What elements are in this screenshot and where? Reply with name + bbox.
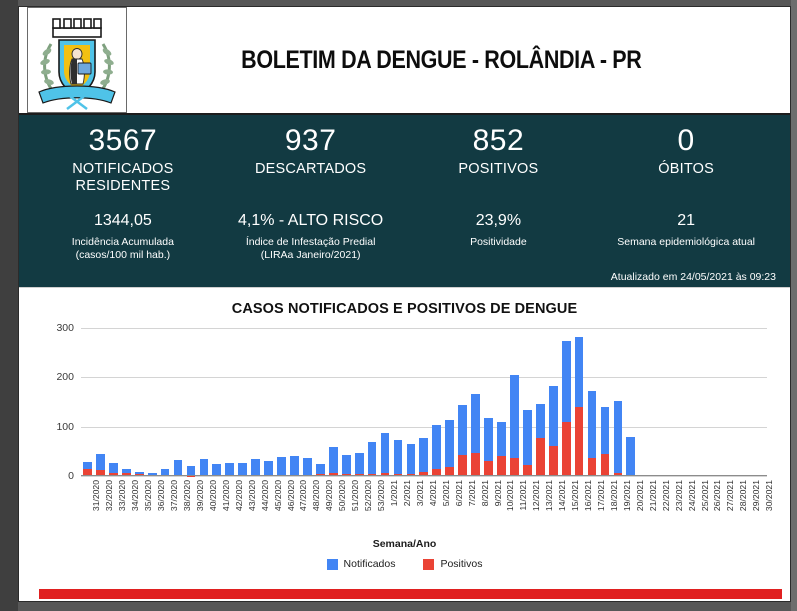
chart-x-axis-title: Semana/Ano <box>19 538 790 550</box>
chart-x-axis-line <box>81 475 767 477</box>
x-tick: 11/2021 <box>508 478 521 536</box>
bar-segment-positivos <box>562 422 571 476</box>
x-tick: 19/2021 <box>611 478 624 536</box>
x-tick: 45/2020 <box>262 478 275 536</box>
bar-segment-notificados <box>251 459 260 475</box>
bar-slot <box>392 328 405 476</box>
stacked-bar <box>303 458 312 476</box>
kpi-card-positivos: 852 POSITIVOS <box>405 125 593 196</box>
legend-item-notificados: Notificados <box>327 558 396 570</box>
bar-segment-positivos <box>536 438 545 476</box>
x-tick: 43/2020 <box>236 478 249 536</box>
kpi-secondary-value-liraa: 4,1% - ALTO RISCO <box>221 212 401 230</box>
bar-segment-notificados <box>575 337 584 407</box>
x-tick: 3/2021 <box>404 478 417 536</box>
stacked-bar <box>407 444 416 476</box>
x-tick: 29/2021 <box>741 478 754 536</box>
bar-slot <box>650 328 663 476</box>
x-tick: 12/2021 <box>521 478 534 536</box>
bar-segment-notificados <box>523 410 532 465</box>
kpi-card-obitos: 0 ÓBITOS <box>592 125 780 196</box>
bar-slot <box>197 328 210 476</box>
stacked-bar <box>458 405 467 476</box>
stacked-bar <box>368 442 377 476</box>
x-tick: 35/2020 <box>133 478 146 536</box>
x-tick: 49/2020 <box>314 478 327 536</box>
bar-segment-notificados <box>549 386 558 446</box>
kpi-card-descartados: 937 DESCARTADOS <box>217 125 405 196</box>
bar-segment-notificados <box>96 454 105 470</box>
kpi-secondary-value-incidencia: 1344,05 <box>33 212 213 230</box>
bar-segment-notificados <box>290 456 299 475</box>
stacked-bar <box>471 394 480 476</box>
screenshot-root: BOLETIM DA DENGUE - ROLÂNDIA - PR 3567 N… <box>0 0 797 611</box>
bar-slot <box>560 328 573 476</box>
left-gutter <box>0 0 18 611</box>
x-tick: 34/2020 <box>120 478 133 536</box>
y-tick-label-300: 300 <box>56 322 74 334</box>
bar-segment-notificados <box>497 422 506 456</box>
bar-slot <box>366 328 379 476</box>
x-tick: 23/2021 <box>663 478 676 536</box>
bar-segment-notificados <box>342 455 351 473</box>
bar-slot <box>185 328 198 476</box>
bar-segment-notificados <box>432 425 441 469</box>
bar-slot <box>301 328 314 476</box>
bar-segment-notificados <box>394 440 403 473</box>
bar-segment-notificados <box>238 463 247 475</box>
legend-swatch-positivos <box>423 559 434 570</box>
kpi-value-descartados: 937 <box>221 125 401 157</box>
legend-label-notificados: Notificados <box>344 558 396 570</box>
bar-segment-notificados <box>601 407 610 454</box>
bar-slot <box>495 328 508 476</box>
stacked-bar <box>342 455 351 476</box>
bar-segment-notificados <box>264 461 273 475</box>
bar-segment-notificados <box>484 418 493 461</box>
legend-swatch-notificados <box>327 559 338 570</box>
bar-slot <box>94 328 107 476</box>
bar-slot <box>741 328 754 476</box>
x-tick: 36/2020 <box>146 478 159 536</box>
x-tick: 22/2021 <box>650 478 663 536</box>
bar-segment-positivos <box>497 456 506 476</box>
bar-slot <box>417 328 430 476</box>
bar-slot <box>624 328 637 476</box>
chart-legend: Notificados Positivos <box>19 558 790 570</box>
kpi-label-descartados: DESCARTADOS <box>221 161 401 179</box>
bar-segment-notificados <box>200 459 209 475</box>
kpi-caption-liraa: Índice de Infestação Predial(LIRAa Janei… <box>221 236 401 262</box>
bar-slot <box>314 328 327 476</box>
x-tick: 24/2021 <box>676 478 689 536</box>
bar-segment-positivos <box>471 453 480 476</box>
bar-segment-notificados <box>407 444 416 474</box>
bar-slot <box>521 328 534 476</box>
x-tick: 32/2020 <box>94 478 107 536</box>
bar-slot <box>81 328 94 476</box>
bar-slot <box>599 328 612 476</box>
x-tick: 25/2021 <box>689 478 702 536</box>
bar-slot <box>508 328 521 476</box>
bar-slot <box>223 328 236 476</box>
x-tick: 8/2021 <box>469 478 482 536</box>
kpi-value-notificados: 3567 <box>33 125 213 157</box>
stacked-bar <box>497 422 506 476</box>
bar-segment-notificados <box>588 391 597 458</box>
bar-slot <box>353 328 366 476</box>
x-tick: 7/2021 <box>456 478 469 536</box>
x-tick: 1/2021 <box>379 478 392 536</box>
bar-slot <box>133 328 146 476</box>
bar-slot <box>754 328 767 476</box>
x-tick: 50/2020 <box>327 478 340 536</box>
kpi-label-positivos: POSITIVOS <box>409 161 589 179</box>
x-tick: 16/2021 <box>573 478 586 536</box>
brasao-icon <box>31 10 123 110</box>
bar-segment-notificados <box>445 420 454 467</box>
kpi-caption-incidencia: Incidência Acumulada(casos/100 mil hab.) <box>33 236 213 262</box>
gridline-0: 0 <box>81 476 767 477</box>
x-tick: 20/2021 <box>624 478 637 536</box>
page-header: BOLETIM DA DENGUE - ROLÂNDIA - PR <box>19 7 790 115</box>
stacked-bar <box>536 404 545 476</box>
stacked-bar <box>626 437 635 476</box>
bar-segment-notificados <box>419 438 428 472</box>
stacked-bar <box>588 391 597 476</box>
bar-slot <box>456 328 469 476</box>
bar-slot <box>534 328 547 476</box>
x-tick: 10/2021 <box>495 478 508 536</box>
bar-segment-positivos <box>458 455 467 476</box>
bar-segment-notificados <box>174 460 183 475</box>
kpi-secondary-incidencia: 1344,05 Incidência Acumulada(casos/100 m… <box>29 212 217 263</box>
bar-segment-notificados <box>381 433 390 472</box>
x-tick: 48/2020 <box>301 478 314 536</box>
x-tick: 5/2021 <box>430 478 443 536</box>
x-tick: 47/2020 <box>288 478 301 536</box>
bar-slot <box>469 328 482 476</box>
bar-segment-notificados <box>225 463 234 475</box>
bar-slot <box>404 328 417 476</box>
bar-slot <box>146 328 159 476</box>
stacked-bar <box>96 454 105 476</box>
x-tick: 51/2020 <box>340 478 353 536</box>
bar-slot <box>728 328 741 476</box>
bar-slot <box>379 328 392 476</box>
bar-slot <box>340 328 353 476</box>
kpi-caption-semana: Semana epidemiológica atual <box>596 236 776 249</box>
bar-slot <box>159 328 172 476</box>
bar-slot <box>107 328 120 476</box>
x-tick: 26/2021 <box>702 478 715 536</box>
kpi-secondary-value-semana: 21 <box>596 212 776 230</box>
stacked-bar <box>549 386 558 476</box>
bar-segment-positivos <box>510 458 519 476</box>
bar-slot <box>443 328 456 476</box>
bar-segment-positivos <box>601 454 610 476</box>
coat-of-arms-emblem <box>27 7 127 113</box>
bar-slot <box>663 328 676 476</box>
bar-segment-positivos <box>588 458 597 476</box>
chart-plot-area: 0100200300 <box>81 328 767 476</box>
bar-slot <box>172 328 185 476</box>
bar-segment-positivos <box>575 407 584 476</box>
bar-segment-notificados <box>614 401 623 473</box>
stacked-bar <box>394 440 403 476</box>
bar-slot <box>275 328 288 476</box>
chart-x-tick-labels: 31/202032/202033/202034/202035/202036/20… <box>81 478 767 536</box>
page-title: BOLETIM DA DENGUE - ROLÂNDIA - PR <box>173 46 743 75</box>
stacked-bar <box>445 420 454 476</box>
last-updated-text: Atualizado em 24/05/2021 às 09:23 <box>611 271 776 283</box>
footer-red-bar <box>39 589 782 599</box>
bar-slot <box>637 328 650 476</box>
x-tick: 4/2021 <box>417 478 430 536</box>
legend-label-positivos: Positivos <box>440 558 482 570</box>
kpi-value-positivos: 852 <box>409 125 589 157</box>
stacked-bar <box>290 456 299 476</box>
bar-segment-notificados <box>109 463 118 473</box>
bar-segment-notificados <box>316 464 325 474</box>
stacked-bar <box>575 337 584 476</box>
bar-slot <box>288 328 301 476</box>
kpi-card-notificados: 3567 NOTIFICADOSRESIDENTES <box>29 125 217 196</box>
stacked-bar <box>200 459 209 476</box>
x-tick: 9/2021 <box>482 478 495 536</box>
x-tick: 18/2021 <box>599 478 612 536</box>
chart-card: CASOS NOTIFICADOS E POSITIVOS DE DENGUE … <box>19 287 790 593</box>
x-tick: 21/2021 <box>637 478 650 536</box>
bar-slot <box>689 328 702 476</box>
right-gutter <box>791 0 797 611</box>
stacked-bar <box>355 453 364 476</box>
legend-item-positivos: Positivos <box>423 558 482 570</box>
bar-segment-positivos <box>549 446 558 476</box>
kpi-secondary-liraa: 4,1% - ALTO RISCO Índice de Infestação P… <box>217 212 405 263</box>
bar-slot <box>702 328 715 476</box>
x-tick: 31/2020 <box>81 478 94 536</box>
bar-slot <box>573 328 586 476</box>
bar-segment-notificados <box>471 394 480 454</box>
bar-slot <box>236 328 249 476</box>
x-tick: 52/2020 <box>353 478 366 536</box>
y-tick-label-0: 0 <box>68 470 74 482</box>
bulletin-sheet: BOLETIM DA DENGUE - ROLÂNDIA - PR 3567 N… <box>18 6 791 602</box>
y-tick-label-100: 100 <box>56 421 74 433</box>
stacked-bar <box>484 418 493 476</box>
kpi-secondary-semana: 21 Semana epidemiológica atual <box>592 212 780 263</box>
kpi-label-obitos: ÓBITOS <box>596 161 776 179</box>
bar-slot <box>327 328 340 476</box>
kpi-secondary-positividade: 23,9% Positividade <box>405 212 593 263</box>
x-tick: 17/2021 <box>586 478 599 536</box>
x-tick: 28/2021 <box>728 478 741 536</box>
stacked-bar <box>277 457 286 476</box>
kpi-secondary-value-positividade: 23,9% <box>409 212 589 230</box>
stacked-bar <box>432 425 441 476</box>
bar-slot <box>715 328 728 476</box>
x-tick: 2/2021 <box>392 478 405 536</box>
bar-segment-notificados <box>212 464 221 475</box>
bar-slot <box>586 328 599 476</box>
x-tick: 44/2020 <box>249 478 262 536</box>
bar-segment-notificados <box>626 437 635 476</box>
x-tick: 37/2020 <box>159 478 172 536</box>
bar-segment-notificados <box>329 447 338 473</box>
stacked-bar <box>329 447 338 476</box>
stacked-bar <box>601 407 610 476</box>
bar-slot <box>249 328 262 476</box>
bar-segment-notificados <box>536 404 545 437</box>
bar-segment-notificados <box>83 462 92 469</box>
bar-slot <box>120 328 133 476</box>
stacked-bar <box>251 459 260 476</box>
bar-slot <box>430 328 443 476</box>
kpi-band: 3567 NOTIFICADOSRESIDENTES 937 DESCARTAD… <box>19 115 790 287</box>
bar-slot <box>210 328 223 476</box>
x-tick: 27/2021 <box>715 478 728 536</box>
x-tick: 40/2020 <box>197 478 210 536</box>
kpi-value-obitos: 0 <box>596 125 776 157</box>
kpi-label-notificados: NOTIFICADOSRESIDENTES <box>33 161 213 196</box>
x-tick: 46/2020 <box>275 478 288 536</box>
y-tick-label-200: 200 <box>56 371 74 383</box>
bar-segment-notificados <box>368 442 377 474</box>
x-tick: 13/2021 <box>534 478 547 536</box>
x-tick-label: 30/2021 <box>764 480 774 511</box>
stacked-bar <box>562 341 571 476</box>
bar-slot <box>547 328 560 476</box>
stacked-bar <box>381 433 390 476</box>
chart-bars <box>81 328 767 476</box>
x-tick: 42/2020 <box>223 478 236 536</box>
bar-segment-notificados <box>277 457 286 475</box>
x-tick: 14/2021 <box>547 478 560 536</box>
bar-slot <box>482 328 495 476</box>
x-tick: 33/2020 <box>107 478 120 536</box>
bar-slot <box>262 328 275 476</box>
bar-segment-notificados <box>458 405 467 454</box>
kpi-caption-positividade: Positividade <box>409 236 589 249</box>
bar-segment-notificados <box>303 458 312 475</box>
x-tick: 6/2021 <box>443 478 456 536</box>
x-tick: 38/2020 <box>172 478 185 536</box>
kpi-secondary-row: 1344,05 Incidência Acumulada(casos/100 m… <box>29 212 780 263</box>
stacked-bar <box>523 410 532 476</box>
x-tick: 41/2020 <box>210 478 223 536</box>
bar-slot <box>611 328 624 476</box>
bar-segment-notificados <box>510 375 519 458</box>
bar-segment-notificados <box>562 341 571 421</box>
x-tick: 15/2021 <box>560 478 573 536</box>
chart-title: CASOS NOTIFICADOS E POSITIVOS DE DENGUE <box>19 288 790 317</box>
stacked-bar <box>419 438 428 476</box>
x-tick: 39/2020 <box>185 478 198 536</box>
stacked-bar <box>614 401 623 476</box>
kpi-primary-row: 3567 NOTIFICADOSRESIDENTES 937 DESCARTAD… <box>29 125 780 196</box>
bar-segment-notificados <box>355 453 364 474</box>
x-tick: 53/2020 <box>366 478 379 536</box>
bar-slot <box>676 328 689 476</box>
x-tick: 30/2021 <box>754 478 767 536</box>
stacked-bar <box>510 375 519 476</box>
